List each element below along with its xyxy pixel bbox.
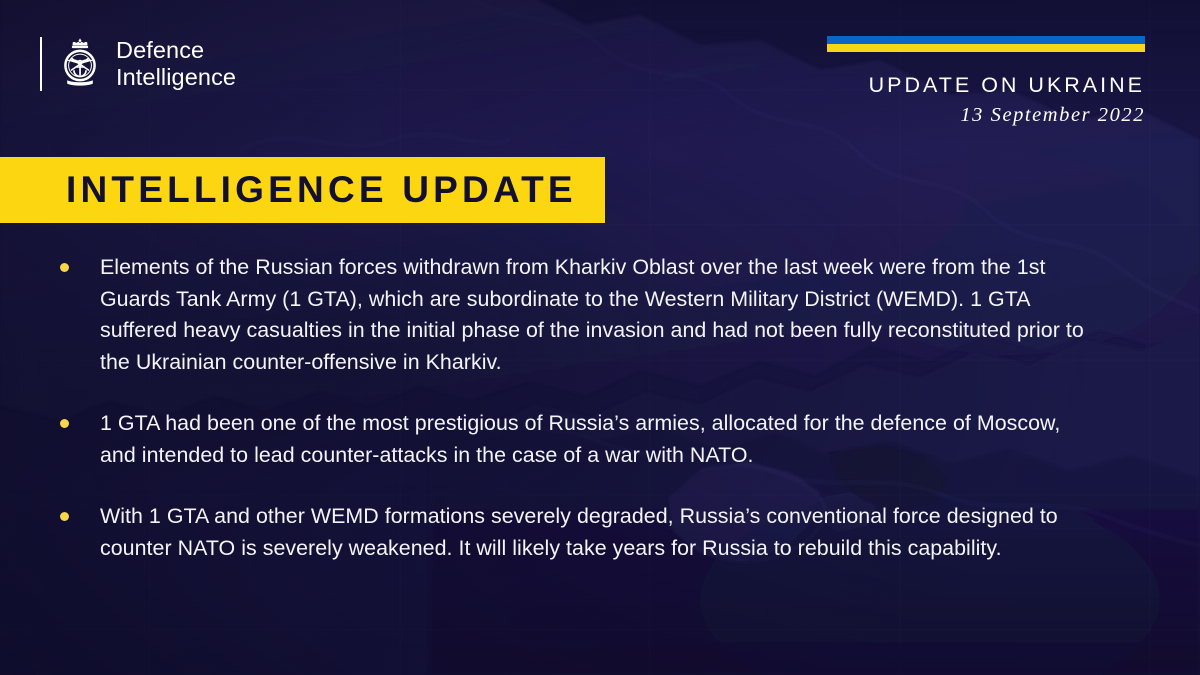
bullet-dot-icon — [60, 512, 69, 521]
banner-label: INTELLIGENCE UPDATE — [0, 169, 577, 211]
bullet-text: 1 GTA had been one of the most prestigio… — [100, 408, 1100, 471]
bullet-dot-icon — [60, 419, 69, 428]
bullet-dot-icon — [60, 263, 69, 272]
flag-stripe-yellow — [827, 44, 1145, 52]
intelligence-update-slide: Defence Intelligence UPDATE ON UKRAINE 1… — [0, 0, 1200, 675]
logo-wordmark-line-1: Defence — [116, 37, 236, 64]
logo-wordmark: Defence Intelligence — [116, 37, 236, 92]
mod-defence-crest-icon — [57, 36, 103, 92]
update-date: 13 September 2022 — [827, 103, 1145, 129]
intelligence-update-banner: INTELLIGENCE UPDATE — [0, 157, 605, 223]
bullet-text: With 1 GTA and other WEMD formations sev… — [100, 501, 1100, 564]
flag-stripe-blue — [827, 36, 1145, 44]
list-item: 1 GTA had been one of the most prestigio… — [60, 408, 1150, 471]
ukraine-flag-bar-icon — [827, 36, 1145, 52]
defence-intelligence-logo: Defence Intelligence — [40, 33, 236, 95]
bullet-text: Elements of the Russian forces withdrawn… — [100, 252, 1100, 378]
bullet-list: Elements of the Russian forces withdrawn… — [60, 252, 1150, 564]
logo-wordmark-line-2: Intelligence — [116, 64, 236, 91]
update-title: UPDATE ON UKRAINE — [827, 73, 1145, 99]
list-item: Elements of the Russian forces withdrawn… — [60, 252, 1150, 378]
update-header: UPDATE ON UKRAINE 13 September 2022 — [827, 36, 1145, 128]
slide-content: Defence Intelligence UPDATE ON UKRAINE 1… — [0, 0, 1200, 675]
logo-divider-rule — [40, 37, 42, 91]
list-item: With 1 GTA and other WEMD formations sev… — [60, 501, 1150, 564]
